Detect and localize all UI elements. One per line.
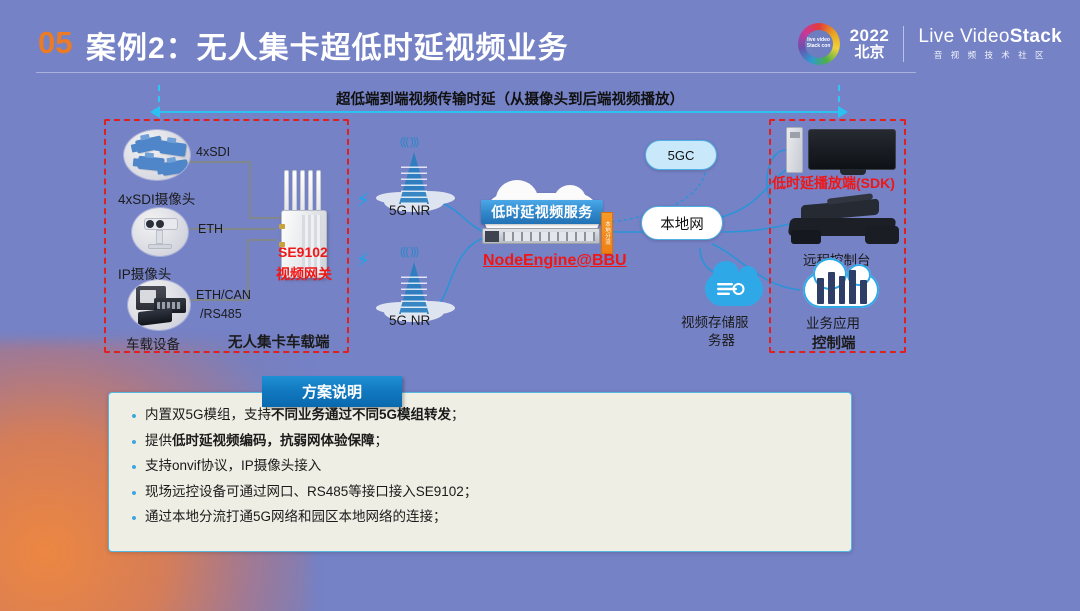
page-title: 案例2：无人集卡超低时延视频业务 bbox=[86, 23, 569, 67]
bullet-pre: 内置双5G模组，支持 bbox=[145, 407, 271, 422]
ethcan-link-label-line1: ETH/CAN bbox=[196, 288, 251, 302]
video-storage-label-line2: 务器 bbox=[708, 329, 735, 349]
slide-root: 05 案例2：无人集卡超低时延视频业务 live video Stack con… bbox=[0, 0, 1080, 611]
wireless-bolt-icon-top: ⚡ bbox=[356, 188, 370, 213]
eth-link-label: ETH bbox=[198, 222, 223, 236]
tower-bottom-label: 5G NR bbox=[389, 313, 430, 328]
control-zone-title: 控制端 bbox=[812, 332, 856, 353]
wireless-bolt-icon-bottom: ⚡ bbox=[356, 248, 370, 273]
low-latency-service-banner: 低时延视频服务 bbox=[481, 200, 603, 224]
local-offload-marker: 本地分流 bbox=[601, 212, 613, 254]
sdi-camera-photo bbox=[124, 130, 190, 180]
bullet-pre: 提供 bbox=[145, 433, 172, 448]
gateway-sub-label: 视频网关 bbox=[276, 264, 332, 284]
brand-city: 北京 bbox=[850, 45, 890, 61]
list-item: • 内置双5G模组，支持不同业务通过不同5G模组转发； bbox=[123, 407, 839, 424]
list-item: • 现场远控设备可通过网口、RS485等接口接入SE9102； bbox=[123, 484, 839, 501]
cloud-local-net: 本地网 bbox=[641, 206, 723, 240]
bullet-text: 通过本地分流打通5G网络和园区本地网络的连接； bbox=[145, 509, 447, 526]
bullet-text: 内置双5G模组，支持不同业务通过不同5G模组转发； bbox=[145, 407, 465, 424]
monitor-icon bbox=[808, 129, 896, 170]
gateway-name-label: SE9102 bbox=[278, 244, 328, 260]
brand-year: 2022 bbox=[850, 27, 890, 45]
remote-console-rig-photo bbox=[783, 196, 903, 248]
list-item: • 支持onvif协议，IP摄像头接入 bbox=[123, 458, 839, 475]
bullet-strong: 不同业务通过不同5G模组转发 bbox=[271, 407, 451, 422]
video-storage-label-line1: 视频存储服 bbox=[681, 311, 749, 331]
bullet-dot-icon: • bbox=[123, 509, 145, 526]
cloud-5gc-label: 5GC bbox=[668, 148, 695, 163]
business-app-cloud-icon bbox=[803, 272, 879, 308]
brand-mark-label: live video Stack con bbox=[805, 30, 833, 58]
latency-arrow-head-right bbox=[838, 106, 848, 118]
brand-name-text: Live VideoStack bbox=[918, 27, 1062, 48]
vehicle-device-photo bbox=[128, 280, 190, 330]
server-rack-icon bbox=[482, 228, 600, 244]
cloud-5gc: 5GC bbox=[645, 140, 717, 170]
brand-name-block: Live VideoStack 音 视 频 技 术 社 区 bbox=[918, 27, 1062, 60]
node-engine-label: NodeEngine@BBU bbox=[483, 252, 627, 270]
se9102-gateway-device bbox=[281, 170, 327, 278]
bullet-dot-icon: • bbox=[123, 433, 145, 450]
cloud-local-net-label: 本地网 bbox=[660, 213, 704, 234]
bullet-text: 支持onvif协议，IP摄像头接入 bbox=[145, 458, 321, 475]
sdi-link-label: 4xSDI bbox=[196, 145, 230, 159]
description-panel: • 内置双5G模组，支持不同业务通过不同5G模组转发； • 提供低时延视频编码，… bbox=[108, 392, 852, 552]
brand-name-bold: Stack bbox=[1010, 26, 1062, 47]
brand-subtitle: 音 视 频 技 术 社 区 bbox=[918, 51, 1062, 60]
sdi-camera-label: 4xSDI摄像头 bbox=[118, 188, 195, 208]
brand-logo: live video Stack con 2022 北京 Live VideoS… bbox=[798, 22, 1062, 66]
vehicle-zone-title: 无人集卡车载端 bbox=[228, 331, 330, 352]
bullet-dot-icon: • bbox=[123, 407, 145, 424]
bullet-text: 现场远控设备可通过网口、RS485等接口接入SE9102； bbox=[145, 484, 477, 501]
description-title-badge: 方案说明 bbox=[262, 376, 402, 407]
tower-top-label: 5G NR bbox=[389, 203, 430, 218]
header-divider bbox=[36, 72, 916, 73]
bullet-dot-icon: • bbox=[123, 484, 145, 501]
bullet-strong: 低时延视频编码，抗弱网体验保障 bbox=[172, 433, 375, 448]
business-app-label: 业务应用 bbox=[806, 312, 860, 332]
brand-divider bbox=[903, 26, 904, 62]
pc-tower-icon bbox=[786, 127, 803, 173]
bullet-list: • 内置双5G模组，支持不同业务通过不同5G模组转发； • 提供低时延视频编码，… bbox=[123, 407, 839, 535]
latency-arrow-label: 超低端到端视频传输时延（从摄像头到后端视频播放） bbox=[230, 88, 790, 109]
vehicle-device-label: 车载设备 bbox=[126, 333, 180, 353]
livevideostack-circle-icon: live video Stack con bbox=[798, 23, 840, 65]
brand-name-prefix: L bbox=[918, 26, 929, 47]
slide-number: 05 bbox=[38, 25, 72, 61]
video-storage-cloud-icon bbox=[705, 272, 763, 306]
ip-camera-photo bbox=[132, 208, 188, 256]
signal-waves-icon-top: ((( ))) bbox=[400, 136, 418, 148]
list-item: • 提供低时延视频编码，抗弱网体验保障； bbox=[123, 433, 839, 450]
brand-name-plain: ive Video bbox=[929, 26, 1010, 47]
server-bars-icon bbox=[817, 266, 867, 304]
bullet-text: 提供低时延视频编码，抗弱网体验保障； bbox=[145, 433, 388, 450]
brand-year-city: 2022 北京 bbox=[850, 27, 890, 61]
bullet-post: ； bbox=[375, 433, 389, 448]
signal-waves-icon-bottom: ((( ))) bbox=[400, 246, 418, 258]
slide-header: 05 案例2：无人集卡超低时延视频业务 live video Stack con… bbox=[0, 0, 1080, 82]
5g-nr-tower-top: ((( ))) bbox=[392, 148, 436, 210]
5g-nr-tower-bottom: ((( ))) bbox=[392, 258, 436, 320]
list-item: • 通过本地分流打通5G网络和园区本地网络的连接； bbox=[123, 509, 839, 526]
bullet-post: ； bbox=[451, 407, 465, 422]
player-sdk-label: 低时延播放端(SDK) bbox=[772, 173, 895, 193]
latency-arrow-line bbox=[158, 111, 840, 113]
ethcan-link-label-line2: /RS485 bbox=[200, 307, 242, 321]
latency-arrow-head-left bbox=[150, 106, 160, 118]
local-offload-label: 本地分流 bbox=[603, 221, 611, 245]
bullet-dot-icon: • bbox=[123, 458, 145, 475]
